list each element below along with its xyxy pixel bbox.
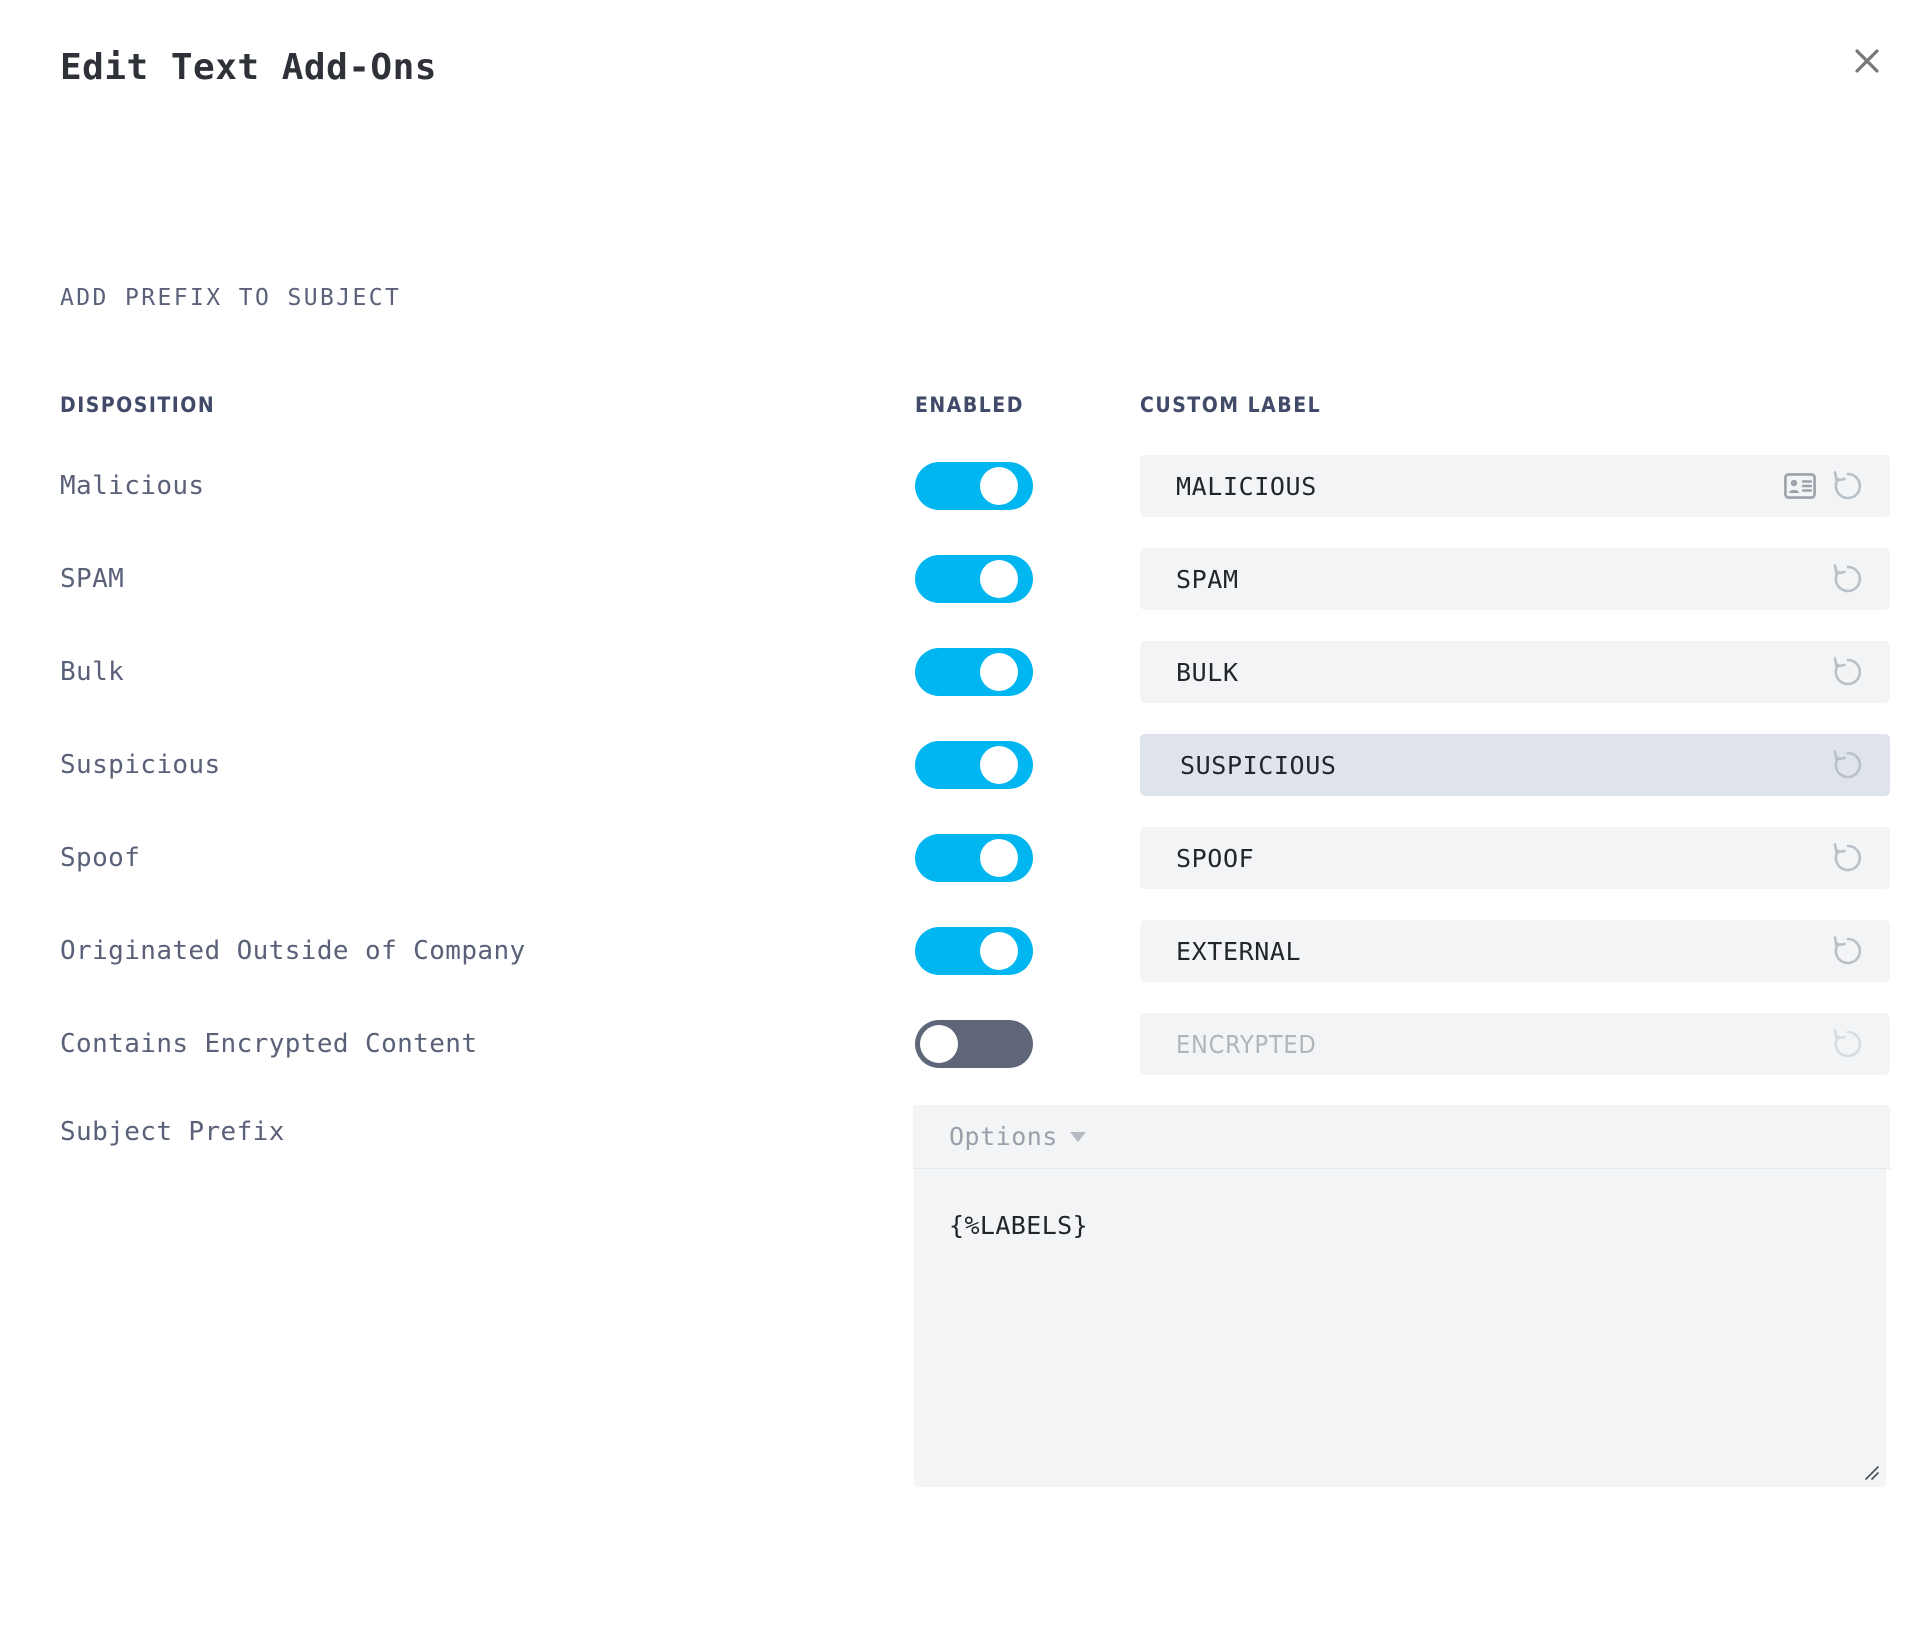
row-icon-group (1830, 840, 1866, 876)
subject-prefix-textarea[interactable]: {%LABELS} (914, 1169, 1886, 1487)
custom-label-value: BULK (1176, 658, 1830, 687)
enabled-toggle[interactable] (915, 648, 1033, 696)
enabled-toggle[interactable] (915, 741, 1033, 789)
toggle-knob (980, 839, 1018, 877)
edit-text-add-ons-dialog: Edit Text Add-Ons ADD PREFIX TO SUBJECT … (0, 0, 1908, 1650)
table-row: SpoofSPOOF (0, 827, 1908, 920)
table-row: SuspiciousSUSPICIOUS (0, 734, 1908, 827)
enabled-toggle-cell (915, 641, 1033, 703)
enabled-toggle-cell (915, 1013, 1033, 1075)
toggle-knob (980, 467, 1018, 505)
custom-label-input[interactable]: SPAM (1140, 548, 1890, 610)
custom-label-cell: SPAM (1140, 548, 1890, 610)
enabled-toggle[interactable] (915, 1020, 1033, 1068)
reset-icon[interactable] (1830, 468, 1866, 504)
enabled-toggle[interactable] (915, 834, 1033, 882)
enabled-toggle-cell (915, 827, 1033, 889)
reset-icon[interactable] (1830, 747, 1866, 783)
custom-label-value: SPAM (1176, 565, 1830, 594)
toggle-knob (980, 560, 1018, 598)
enabled-toggle[interactable] (915, 555, 1033, 603)
table-row: MaliciousMALICIOUS (0, 455, 1908, 548)
subject-prefix-editor: Options {%LABELS} (913, 1105, 1890, 1487)
subject-prefix-label: Subject Prefix (60, 1117, 285, 1147)
toggle-knob (980, 746, 1018, 784)
custom-label-cell: EXTERNAL (1140, 920, 1890, 982)
row-icon-group (1830, 933, 1866, 969)
enabled-toggle-cell (915, 455, 1033, 517)
enabled-toggle[interactable] (915, 462, 1033, 510)
custom-label-cell: BULK (1140, 641, 1890, 703)
disposition-label: SPAM (60, 548, 124, 610)
toggle-knob (920, 1025, 958, 1063)
close-icon[interactable] (1844, 38, 1890, 84)
page-title: Edit Text Add-Ons (60, 50, 1860, 86)
enabled-toggle-cell (915, 734, 1033, 796)
resize-handle-icon[interactable] (1860, 1461, 1880, 1481)
custom-label-input[interactable]: SPOOF (1140, 827, 1890, 889)
enabled-toggle-cell (915, 548, 1033, 610)
row-icon-group (1784, 468, 1866, 504)
options-dropdown[interactable]: Options (949, 1122, 1086, 1151)
custom-label-cell: MALICIOUS (1140, 455, 1890, 517)
toggle-knob (980, 653, 1018, 691)
enabled-toggle-cell (915, 920, 1033, 982)
custom-label-input[interactable]: MALICIOUS (1140, 455, 1890, 517)
row-icon-group (1830, 654, 1866, 690)
contact-card-icon[interactable] (1784, 473, 1816, 499)
custom-label-cell: SPOOF (1140, 827, 1890, 889)
custom-label-value: ENCRYPTED (1176, 1030, 1830, 1059)
reset-icon[interactable] (1830, 654, 1866, 690)
table-row: Contains Encrypted ContentENCRYPTED (0, 1013, 1908, 1106)
custom-label-cell: ENCRYPTED (1140, 1013, 1890, 1075)
custom-label-input[interactable]: EXTERNAL (1140, 920, 1890, 982)
reset-icon[interactable] (1830, 933, 1866, 969)
table-row: Originated Outside of CompanyEXTERNAL (0, 920, 1908, 1013)
section-label: ADD PREFIX TO SUBJECT (60, 285, 401, 311)
column-header-disposition: DISPOSITION (60, 393, 215, 417)
custom-label-value: EXTERNAL (1176, 937, 1830, 966)
chevron-down-icon (1070, 1132, 1086, 1142)
disposition-rows: MaliciousMALICIOUSSPAMSPAMBulkBULKSuspic… (0, 455, 1908, 1106)
column-header-custom-label: CUSTOM LABEL (1140, 393, 1321, 417)
table-row: SPAMSPAM (0, 548, 1908, 641)
column-header-enabled: ENABLED (915, 393, 1024, 417)
custom-label-cell: SUSPICIOUS (1140, 734, 1890, 796)
reset-icon[interactable] (1830, 561, 1866, 597)
toggle-knob (980, 932, 1018, 970)
custom-label-value: SPOOF (1176, 844, 1830, 873)
custom-label-input[interactable]: BULK (1140, 641, 1890, 703)
row-icon-group (1830, 561, 1866, 597)
disposition-label: Suspicious (60, 734, 221, 796)
table-row: BulkBULK (0, 641, 1908, 734)
disposition-label: Originated Outside of Company (60, 920, 526, 982)
custom-label-input: ENCRYPTED (1140, 1013, 1890, 1075)
reset-icon[interactable] (1830, 840, 1866, 876)
custom-label-input[interactable]: SUSPICIOUS (1140, 734, 1890, 796)
enabled-toggle[interactable] (915, 927, 1033, 975)
options-dropdown-label: Options (949, 1122, 1058, 1151)
subject-prefix-value: {%LABELS} (949, 1211, 1886, 1240)
dialog-header: Edit Text Add-Ons (60, 50, 1860, 110)
row-icon-group (1830, 1026, 1866, 1062)
reset-icon (1830, 1026, 1866, 1062)
editor-toolbar: Options (913, 1105, 1890, 1169)
disposition-label: Bulk (60, 641, 124, 703)
disposition-label: Contains Encrypted Content (60, 1013, 477, 1075)
row-icon-group (1830, 747, 1866, 783)
disposition-label: Spoof (60, 827, 140, 889)
custom-label-value: MALICIOUS (1176, 472, 1784, 501)
custom-label-value: SUSPICIOUS (1180, 751, 1830, 780)
disposition-label: Malicious (60, 455, 204, 517)
